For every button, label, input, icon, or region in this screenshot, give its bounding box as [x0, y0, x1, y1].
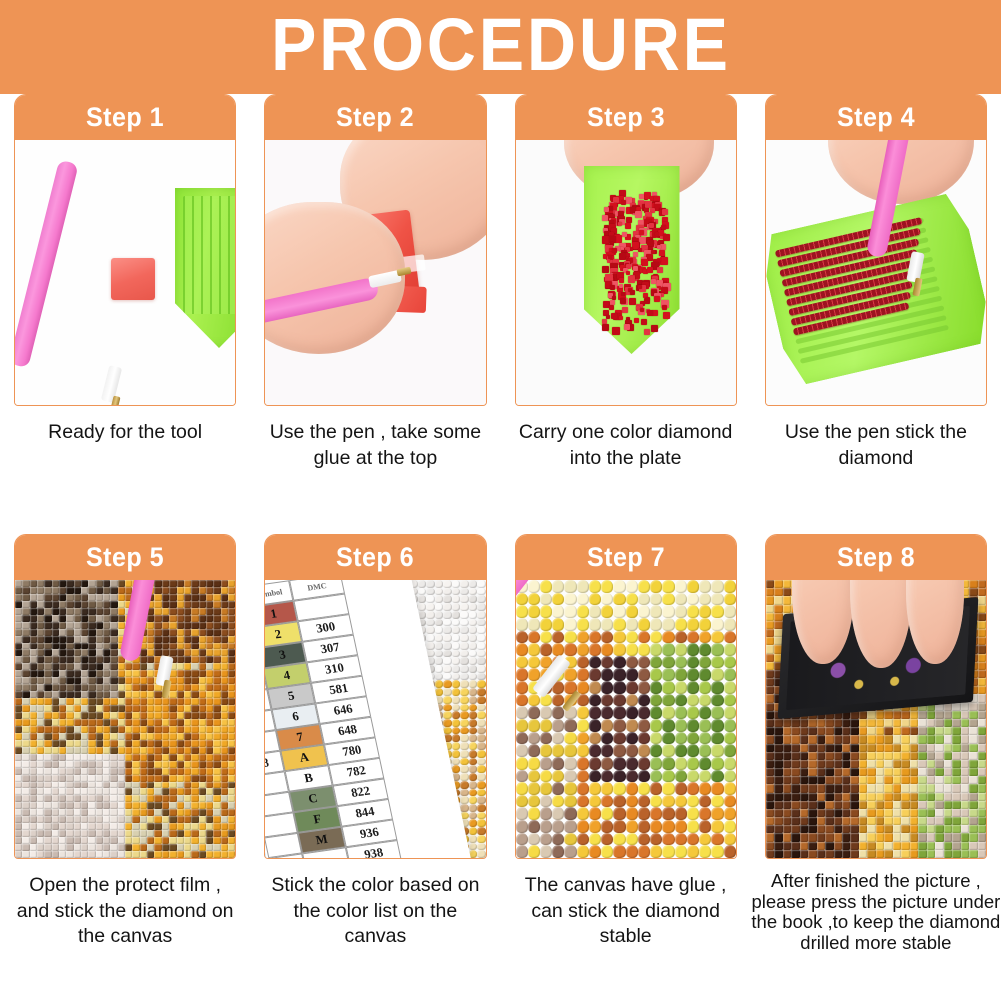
- step-card-4: Step 4 Use the pen stick the diamond: [751, 94, 1001, 534]
- colorful-drills-icon: [516, 580, 736, 858]
- step-2-header: Step 2: [265, 95, 485, 140]
- green-tray-icon: [584, 166, 680, 354]
- step-7-caption: The canvas have glue , can stick the dia…: [515, 873, 737, 950]
- step-5-label: Step 5: [86, 542, 164, 573]
- step-2-card: Step 2: [264, 94, 486, 406]
- step-5-header: Step 5: [15, 535, 235, 580]
- step-2-caption: Use the pen , take some glue at the top: [264, 420, 486, 471]
- step-4-header: Step 4: [766, 95, 986, 140]
- step-card-1: Step 1 Ready for the tool: [0, 94, 250, 534]
- step-6-label: Step 6: [336, 542, 414, 573]
- step-8-card: Step 8: [765, 534, 987, 859]
- step-card-6: Step 6 SerialSymbolDMC112230033307443105…: [250, 534, 500, 1001]
- step-3-label: Step 3: [587, 102, 665, 133]
- step-6-header: Step 6: [265, 535, 485, 580]
- steps-grid: Step 1 Ready for the tool Step 2: [0, 94, 1001, 1001]
- step-7-header: Step 7: [516, 535, 736, 580]
- step-1-caption: Ready for the tool: [14, 420, 236, 446]
- step-8-label: Step 8: [837, 542, 915, 573]
- step-8-header: Step 8: [766, 535, 986, 580]
- step-8-caption: After finished the picture , please pres…: [749, 871, 1001, 954]
- step-1-header: Step 1: [15, 95, 235, 140]
- step-7-label: Step 7: [587, 542, 665, 573]
- step-3-header: Step 3: [516, 95, 736, 140]
- step-card-3: Step 3 Carry one color diamond into the …: [501, 94, 751, 534]
- step-4-card: Step 4: [765, 94, 987, 406]
- step-5-photo: [15, 580, 235, 858]
- step-6-card: Step 6 SerialSymbolDMC112230033307443105…: [264, 534, 486, 859]
- step-3-card: Step 3: [515, 94, 737, 406]
- step-5-card: Step 5: [14, 534, 236, 859]
- step-2-label: Step 2: [336, 102, 414, 133]
- step-6-photo: SerialSymbolDMC1122300333074431055581666…: [265, 580, 485, 858]
- red-diamonds-icon: [598, 188, 668, 330]
- step-5-caption: Open the protect film , and stick the di…: [14, 873, 236, 950]
- step-card-7: Step 7 The canvas have glue , can stick …: [501, 534, 751, 1001]
- step-7-photo: [516, 580, 736, 858]
- page-header-banner: PROCEDURE: [0, 0, 1001, 94]
- step-card-8: Step 8 After finished the picture , plea…: [751, 534, 1001, 1001]
- step-4-label: Step 4: [837, 102, 915, 133]
- step-2-photo: [265, 140, 485, 405]
- step-3-photo: [516, 140, 736, 405]
- step-1-photo: [15, 140, 235, 405]
- step-4-photo: [766, 140, 986, 405]
- step-1-card: Step 1: [14, 94, 236, 406]
- step-card-2: Step 2 Use the pen , take some glue at t…: [250, 94, 500, 534]
- step-card-5: Step 5 Open the protect film , and stick…: [0, 534, 250, 1001]
- step-8-photo: [766, 580, 986, 858]
- step-1-label: Step 1: [86, 102, 164, 133]
- page-title: PROCEDURE: [271, 8, 731, 86]
- pink-pen-icon: [15, 160, 79, 369]
- step-6-caption: Stick the color based on the color list …: [264, 873, 486, 950]
- step-4-caption: Use the pen stick the diamond: [765, 420, 987, 471]
- step-7-card: Step 7: [515, 534, 737, 859]
- glue-square-icon: [111, 258, 155, 300]
- step-3-caption: Carry one color diamond into the plate: [515, 420, 737, 471]
- procedure-infographic: PROCEDURE Step 1 Ready for the too: [0, 0, 1001, 1001]
- green-tray-icon: [175, 188, 235, 348]
